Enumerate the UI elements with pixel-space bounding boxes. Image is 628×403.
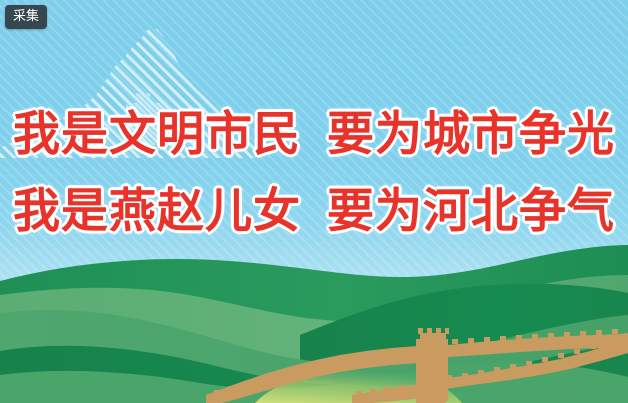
slogan-line-2: 我是燕赵儿女要为河北争气 <box>0 173 628 250</box>
slogan-block: 我是文明市民要为城市争光 我是燕赵儿女要为河北争气 <box>0 96 628 250</box>
slogan-line-1-left: 我是文明市民 <box>13 107 301 162</box>
capture-button[interactable]: 采集 <box>5 5 47 29</box>
landscape-illustration <box>0 243 628 403</box>
wall-tower-body <box>416 371 446 403</box>
banner-screenshot: 我是文明市民要为城市争光 我是燕赵儿女要为河北争气 <box>0 0 628 403</box>
slogan-line-2-right: 要为河北争气 <box>327 184 615 239</box>
slogan-line-1-right: 要为城市争光 <box>327 107 615 162</box>
slogan-line-1: 我是文明市民要为城市争光 <box>0 96 628 173</box>
landscape-svg <box>0 243 628 403</box>
slogan-line-2-left: 我是燕赵儿女 <box>13 184 301 239</box>
